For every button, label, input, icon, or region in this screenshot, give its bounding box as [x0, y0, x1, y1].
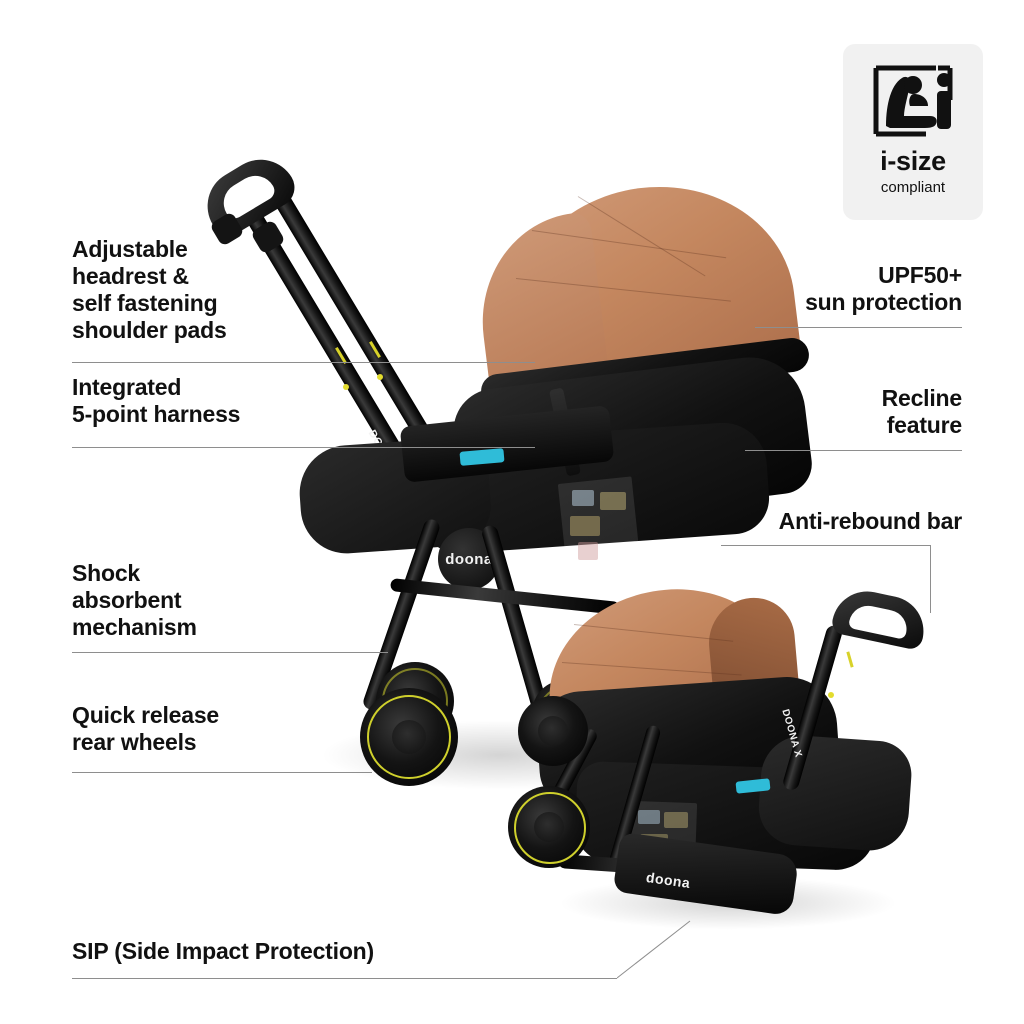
instruction-sticker-icon-4 [578, 542, 598, 560]
instruction-sticker-icon-2 [600, 492, 626, 510]
leader-shock-absorbent [72, 652, 388, 653]
callout-shock-absorbent: Shock absorbent mechanism [72, 560, 332, 641]
rear-wheel-2-hub [534, 812, 564, 842]
instruction-sticker-2-icon-2 [664, 812, 688, 828]
callout-integrated-harness: Integrated 5-point harness [72, 374, 352, 428]
leader-anti-rebound-bar-horizontal [721, 545, 931, 546]
callout-upf-sun-protection: UPF50+ sun protection [662, 262, 962, 316]
rear-wheel-near-hub [392, 720, 426, 754]
callout-recline-feature: Recline feature [702, 385, 962, 439]
leader-sip-horizontal [72, 978, 617, 979]
i-size-badge-title: i-size [880, 146, 946, 177]
instruction-sticker-2-icon-1 [638, 810, 660, 824]
callout-adjustable-headrest: Adjustable headrest & self fastening sho… [72, 236, 342, 344]
brand-wordmark: doona [445, 551, 493, 568]
leader-quick-release-wheels [72, 772, 372, 773]
leader-anti-rebound-bar-vertical [930, 545, 931, 613]
leader-adjustable-headrest [72, 362, 535, 363]
i-size-badge-subtitle: compliant [881, 179, 945, 196]
leader-sip-diagonal [617, 920, 691, 979]
carry-handle-accent-dot-2 [828, 692, 834, 698]
handle-accent-dot-2 [377, 374, 383, 380]
front-wheel-2-hub [538, 716, 568, 746]
callout-quick-release-wheels: Quick release rear wheels [72, 702, 342, 756]
carry-handle-accent-band-2 [846, 651, 853, 667]
product-car-seat-mode: DOONA X doona [498, 580, 958, 940]
infographic-canvas: DOONA X doona [0, 0, 1024, 1024]
i-size-compliant-badge: i-size compliant [843, 44, 983, 220]
leader-upf-sun-protection [755, 327, 962, 328]
instruction-sticker-icon-1 [572, 490, 594, 506]
callout-anti-rebound-bar: Anti-rebound bar [662, 508, 962, 535]
leader-recline-feature [745, 450, 962, 451]
seat-pad-2 [756, 733, 913, 853]
instruction-sticker-icon-3 [570, 516, 600, 536]
i-size-child-seat-icon [864, 58, 962, 142]
callout-side-impact-protection: SIP (Side Impact Protection) [72, 938, 592, 965]
leader-integrated-harness [72, 447, 535, 448]
